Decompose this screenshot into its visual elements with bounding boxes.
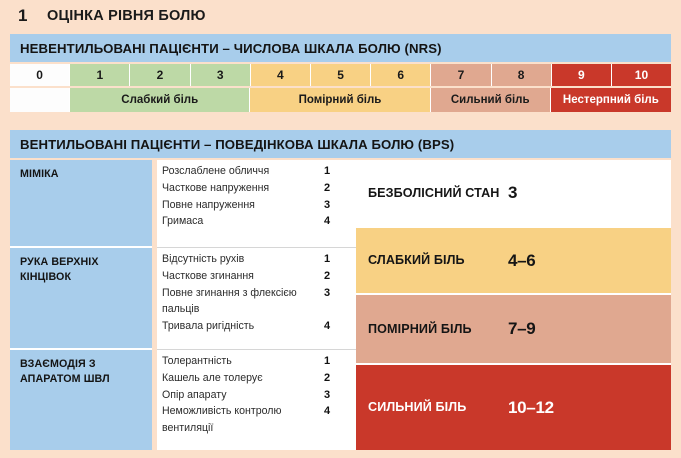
bps-item-text: Кашель але толерує — [159, 370, 324, 387]
bps-group-label-0: МІМІКА — [10, 160, 152, 248]
nrs-category-1: Слабкий біль — [70, 88, 250, 112]
bps-item-score: 4 — [324, 403, 352, 420]
bps-item-text: Відсутність рухів — [159, 251, 324, 268]
bps-item-text: Гримаса — [159, 213, 324, 230]
nrs-header: НЕВЕНТИЛЬОВАНІ ПАЦІЄНТИ – ЧИСЛОВА ШКАЛА … — [10, 34, 671, 62]
bps-group-label-1: РУКА ВЕРХНІХ КІНЦІВОК — [10, 248, 152, 350]
bps-result-row-1: СЛАБКИЙ БІЛЬ4–6 — [356, 228, 671, 295]
bps-result-row-0: БЕЗБОЛІСНИЙ СТАН3 — [356, 160, 671, 228]
nrs-number-row: 012345678910 — [10, 64, 671, 86]
nrs-category-3: Сильний біль — [431, 88, 551, 112]
nrs-category-0 — [10, 88, 70, 112]
nrs-score-6: 6 — [371, 64, 431, 86]
bps-result-label: СЛАБКИЙ БІЛЬ — [368, 253, 508, 268]
bps-item: Толерантність1 — [159, 353, 356, 370]
bps-result-column: БЕЗБОЛІСНИЙ СТАН3СЛАБКИЙ БІЛЬ4–6ПОМІРНИЙ… — [356, 160, 671, 450]
bps-result-value: 10–12 — [508, 398, 554, 418]
bps-item-score: 3 — [324, 387, 352, 404]
bps-result-label: БЕЗБОЛІСНИЙ СТАН — [368, 186, 508, 201]
bps-item-score: 2 — [324, 180, 352, 197]
bps-item-score: 2 — [324, 370, 352, 387]
bps-result-value: 4–6 — [508, 251, 535, 271]
bps-item: Повне згинання з флексією пальців3 — [159, 285, 356, 319]
bps-header: ВЕНТИЛЬОВАНІ ПАЦІЄНТИ – ПОВЕДІНКОВА ШКАЛ… — [10, 130, 671, 158]
nrs-score-3: 3 — [191, 64, 251, 86]
bps-item-text: Розслаблене обличчя — [159, 163, 324, 180]
bps-item: Часткове згинання2 — [159, 268, 356, 285]
page-title: ОЦІНКА РІВНЯ БОЛЮ — [47, 8, 206, 24]
bps-item-score: 4 — [324, 213, 352, 230]
nrs-score-2: 2 — [130, 64, 190, 86]
bps-item-score: 1 — [324, 251, 352, 268]
bps-item-text: Опір апарату — [159, 387, 324, 404]
bps-group-column: МІМІКАРУКА ВЕРХНІХ КІНЦІВОКВЗАЄМОДІЯ З А… — [10, 160, 152, 450]
nrs-block: НЕВЕНТИЛЬОВАНІ ПАЦІЄНТИ – ЧИСЛОВА ШКАЛА … — [10, 34, 671, 112]
bps-result-row-3: СИЛЬНИЙ БІЛЬ10–12 — [356, 365, 671, 450]
bps-result-value: 3 — [508, 183, 517, 203]
bps-item-text: Тривала ригідність — [159, 318, 324, 335]
bps-item-group-2: Толерантність1Кашель але толерує2Опір ап… — [157, 350, 356, 450]
bps-block: ВЕНТИЛЬОВАНІ ПАЦІЄНТИ – ПОВЕДІНКОВА ШКАЛ… — [10, 130, 671, 450]
bps-group-label-2: ВЗАЄМОДІЯ З АПАРАТОМ ШВЛ — [10, 350, 152, 450]
bps-result-row-2: ПОМІРНИЙ БІЛЬ7–9 — [356, 295, 671, 365]
bps-item-text: Толерантність — [159, 353, 324, 370]
nrs-category-2: Помірний біль — [250, 88, 430, 112]
bps-item: Відсутність рухів1 — [159, 251, 356, 268]
bps-item-text: Часткове напруження — [159, 180, 324, 197]
bps-result-label: ПОМІРНИЙ БІЛЬ — [368, 322, 508, 337]
bps-item-text: Повне напруження — [159, 197, 324, 214]
bps-item: Повне напруження3 — [159, 197, 356, 214]
bps-item: Гримаса4 — [159, 213, 356, 230]
nrs-category-4: Нестерпний біль — [551, 88, 671, 112]
bps-item: Опір апарату3 — [159, 387, 356, 404]
nrs-score-5: 5 — [311, 64, 371, 86]
bps-item: Розслаблене обличчя1 — [159, 163, 356, 180]
bps-result-value: 7–9 — [508, 319, 535, 339]
bps-item-group-1: Відсутність рухів1Часткове згинання2Повн… — [157, 248, 356, 350]
section-number: 1 — [18, 6, 27, 26]
bps-item-text: Часткове згинання — [159, 268, 324, 285]
bps-item: Часткове напруження2 — [159, 180, 356, 197]
bps-item: Кашель але толерує2 — [159, 370, 356, 387]
nrs-score-1: 1 — [70, 64, 130, 86]
bps-result-label: СИЛЬНИЙ БІЛЬ — [368, 400, 508, 415]
nrs-score-0: 0 — [10, 64, 70, 86]
nrs-category-row: Слабкий більПомірний більСильний більНес… — [10, 88, 671, 112]
bps-item-score: 3 — [324, 285, 352, 302]
bps-item-score: 2 — [324, 268, 352, 285]
nrs-score-10: 10 — [612, 64, 671, 86]
bps-item-score: 3 — [324, 197, 352, 214]
bps-item-score: 1 — [324, 353, 352, 370]
nrs-score-7: 7 — [431, 64, 491, 86]
bps-item-score: 1 — [324, 163, 352, 180]
bps-item-text: Повне згинання з флексією пальців — [159, 285, 324, 319]
nrs-score-9: 9 — [552, 64, 612, 86]
section-title-row: 1 ОЦІНКА РІВНЯ БОЛЮ — [0, 0, 681, 32]
bps-item-group-0: Розслаблене обличчя1Часткове напруження2… — [157, 160, 356, 248]
bps-items-column: Розслаблене обличчя1Часткове напруження2… — [157, 160, 356, 450]
nrs-score-4: 4 — [251, 64, 311, 86]
bps-item: Неможливість контролю вентиляції4 — [159, 403, 356, 437]
bps-item-score: 4 — [324, 318, 352, 335]
bps-body: МІМІКАРУКА ВЕРХНІХ КІНЦІВОКВЗАЄМОДІЯ З А… — [10, 160, 671, 450]
bps-item-text: Неможливість контролю вентиляції — [159, 403, 324, 437]
bps-item: Тривала ригідність4 — [159, 318, 356, 335]
nrs-score-8: 8 — [492, 64, 552, 86]
